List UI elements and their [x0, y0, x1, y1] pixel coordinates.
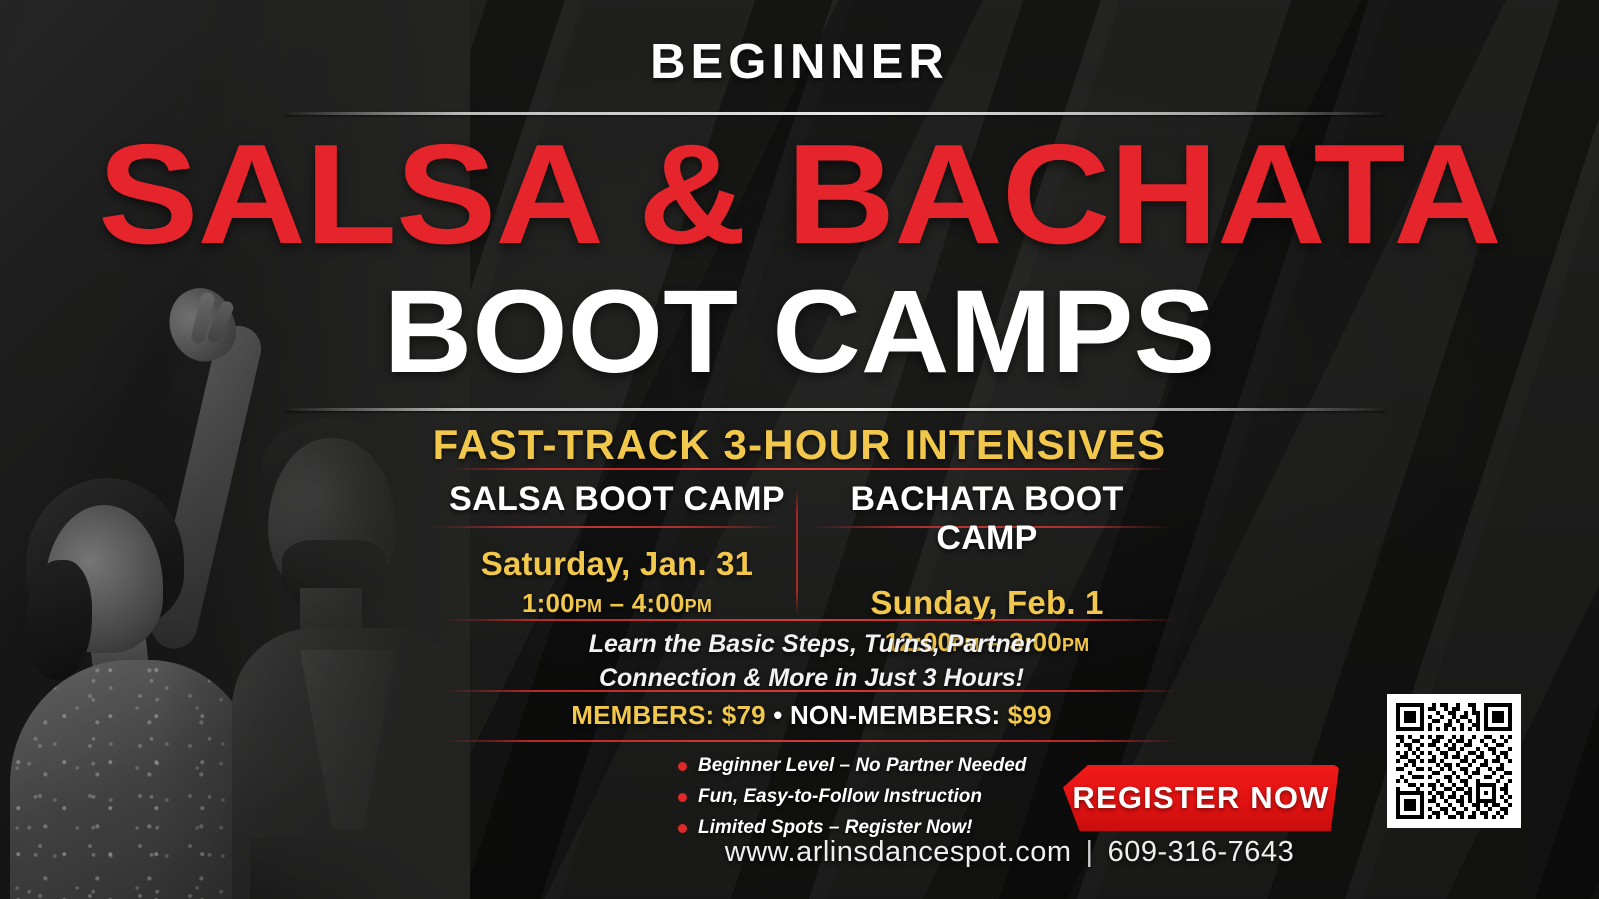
qr-code[interactable]	[1387, 694, 1521, 828]
divider-silver-middle	[286, 408, 1385, 411]
promotional-flyer: BEGINNER SALSA & BACHATA BOOT CAMPS FAST…	[0, 0, 1599, 899]
footer-separator: |	[1086, 836, 1094, 868]
price-nonmembers-label: NON-MEMBERS:	[790, 700, 1008, 730]
poster-content: BEGINNER SALSA & BACHATA BOOT CAMPS FAST…	[0, 0, 1599, 899]
bullet-label: Beginner Level – No Partner Needed	[698, 755, 1026, 777]
description-text: Learn the Basic Steps, Turns, Partner Co…	[444, 628, 1179, 695]
camp-name-bachata: BACHATA BOOT CAMP	[802, 480, 1172, 558]
register-now-button[interactable]: REGISTER NOW	[1063, 765, 1339, 831]
footer-contact: www.arlinsdancespot.com|609-316-7643	[0, 836, 1599, 869]
salsa-end-ampm: PM	[685, 596, 712, 616]
price-members: MEMBERS: $79	[571, 700, 766, 730]
camp-time-salsa: 1:00PM – 4:00PM	[432, 588, 802, 619]
camp-date-salsa: Saturday, Jan. 31	[432, 545, 802, 583]
salsa-end-time: 4:00	[632, 588, 685, 618]
bullet-dot-icon	[678, 824, 687, 833]
page-title-primary: SALSA & BACHATA	[0, 124, 1599, 266]
price-nonmembers-amount: $99	[1008, 700, 1052, 730]
salsa-start-ampm: PM	[575, 596, 602, 616]
qr-code-image	[1396, 703, 1512, 819]
bullet-dot-icon	[678, 762, 687, 771]
bullet-dot-icon	[678, 793, 687, 802]
divider-red-above-pricing	[444, 690, 1179, 692]
price-separator: •	[766, 700, 790, 730]
list-item: Fun, Easy-to-Follow Instruction	[678, 786, 1026, 808]
divider-red-above-camps	[450, 468, 1169, 470]
camp-date-bachata: Sunday, Feb. 1	[802, 584, 1172, 622]
pricing-line: MEMBERS: $79 • NON-MEMBERS: $99	[444, 700, 1179, 731]
bullet-label: Fun, Easy-to-Follow Instruction	[698, 786, 982, 808]
feature-bullet-list: Beginner Level – No Partner Needed Fun, …	[678, 755, 1026, 848]
list-item: Beginner Level – No Partner Needed	[678, 755, 1026, 777]
register-now-label: REGISTER NOW	[1072, 780, 1329, 816]
salsa-time-dash: –	[610, 588, 625, 618]
description-line-1: Learn the Basic Steps, Turns, Partner	[444, 628, 1179, 662]
page-title-secondary: BOOT CAMPS	[0, 273, 1599, 391]
salsa-start-time: 1:00	[522, 588, 575, 618]
divider-red-below-pricing	[444, 740, 1179, 742]
website-link[interactable]: www.arlinsdancespot.com	[725, 836, 1072, 868]
kicker-heading: BEGINNER	[0, 34, 1599, 90]
camp-name-salsa: SALSA BOOT CAMP	[432, 480, 802, 519]
phone-number[interactable]: 609-316-7643	[1108, 836, 1295, 868]
divider-red-above-blurb	[444, 619, 1179, 621]
subtitle-heading: FAST-TRACK 3-HOUR INTENSIVES	[0, 421, 1599, 469]
